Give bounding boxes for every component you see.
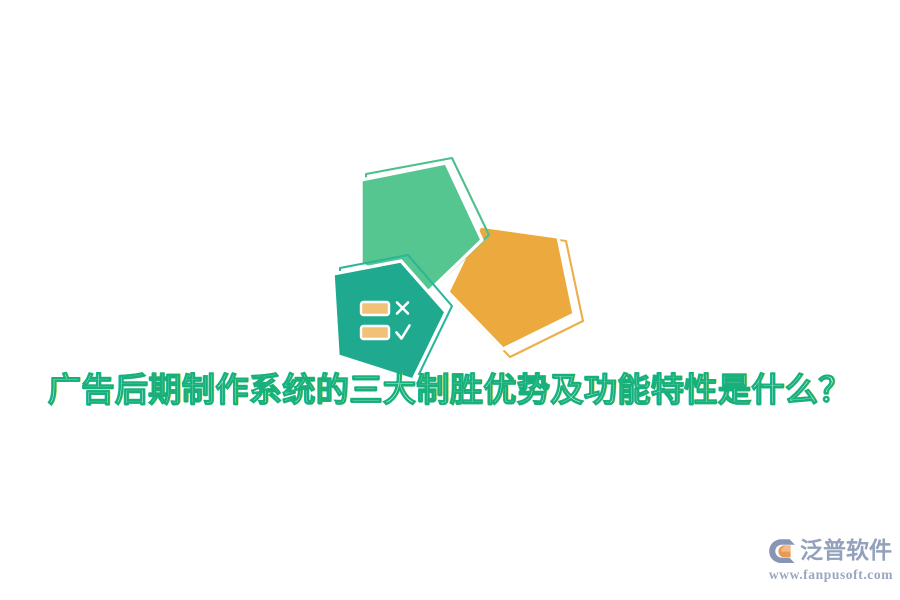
brand-logo-row: 泛普软件 bbox=[768, 536, 894, 566]
fanpu-logo-icon bbox=[768, 538, 796, 564]
checklist-bar-1 bbox=[361, 302, 389, 315]
checklist-bar-2 bbox=[361, 326, 389, 339]
brand-url: www.fanpusoft.com bbox=[768, 567, 894, 583]
page-canvas: 广告后期制作系统的三大制胜优势及功能特性是什么？ 泛普软件 www.fanpus… bbox=[0, 0, 900, 600]
pentagon-cluster-graphic bbox=[300, 140, 600, 380]
hero-illustration bbox=[300, 140, 600, 380]
brand-name: 泛普软件 bbox=[800, 538, 892, 564]
brand-watermark: 泛普软件 www.fanpusoft.com bbox=[768, 536, 894, 588]
page-title: 广告后期制作系统的三大制胜优势及功能特性是什么？ bbox=[0, 368, 900, 414]
